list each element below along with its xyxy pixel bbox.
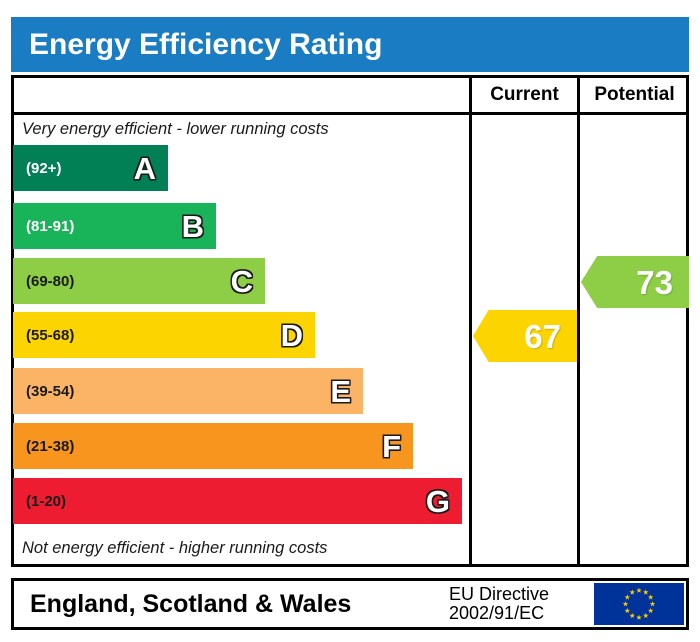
band-letter-f: F — [382, 431, 401, 462]
current-column-divider — [469, 75, 472, 567]
epc-certificate: Energy Efficiency Rating Current Potenti… — [0, 0, 700, 642]
rating-band-d: (55-68)D — [13, 312, 315, 358]
band-letter-a: A — [134, 153, 156, 184]
column-header-potential: Potential — [580, 78, 689, 112]
eu-flag-icon — [594, 583, 684, 625]
band-range-e: (39-54) — [13, 383, 74, 400]
rating-band-e: (39-54)E — [13, 368, 363, 414]
eu-directive-label: EU Directive 2002/91/EC — [449, 581, 585, 627]
band-range-b: (81-91) — [13, 218, 74, 235]
current-rating-value: 67 — [524, 320, 577, 353]
band-range-f: (21-38) — [13, 438, 74, 455]
title-banner: Energy Efficiency Rating — [11, 17, 689, 72]
band-letter-b: B — [182, 211, 204, 242]
footer-bar: England, Scotland & Wales — [11, 578, 689, 630]
caption-not-efficient: Not energy efficient - higher running co… — [22, 539, 327, 558]
band-range-g: (1-20) — [13, 493, 66, 510]
potential-rating-arrow: 73 — [581, 256, 689, 308]
header-row-divider — [11, 112, 689, 115]
footer-region-label: England, Scotland & Wales — [14, 590, 351, 619]
rating-band-a: (92+)A — [13, 145, 168, 191]
eu-directive-line2: 2002/91/EC — [449, 604, 585, 623]
band-letter-d: D — [281, 320, 303, 351]
band-letter-e: E — [330, 376, 351, 407]
current-rating-arrow: 67 — [473, 310, 577, 362]
column-header-current: Current — [472, 78, 577, 112]
eu-directive-line1: EU Directive — [449, 585, 585, 604]
rating-band-f: (21-38)F — [13, 423, 413, 469]
caption-very-efficient: Very energy efficient - lower running co… — [22, 120, 329, 139]
band-letter-c: C — [231, 266, 253, 297]
band-range-a: (92+) — [13, 160, 61, 177]
page-title: Energy Efficiency Rating — [11, 28, 382, 62]
potential-rating-value: 73 — [636, 266, 689, 299]
rating-band-b: (81-91)B — [13, 203, 216, 249]
potential-column-divider — [577, 75, 580, 567]
band-range-c: (69-80) — [13, 273, 74, 290]
band-range-d: (55-68) — [13, 327, 74, 344]
band-letter-g: G — [426, 486, 450, 517]
rating-band-c: (69-80)C — [13, 258, 265, 304]
rating-band-g: (1-20)G — [13, 478, 462, 524]
